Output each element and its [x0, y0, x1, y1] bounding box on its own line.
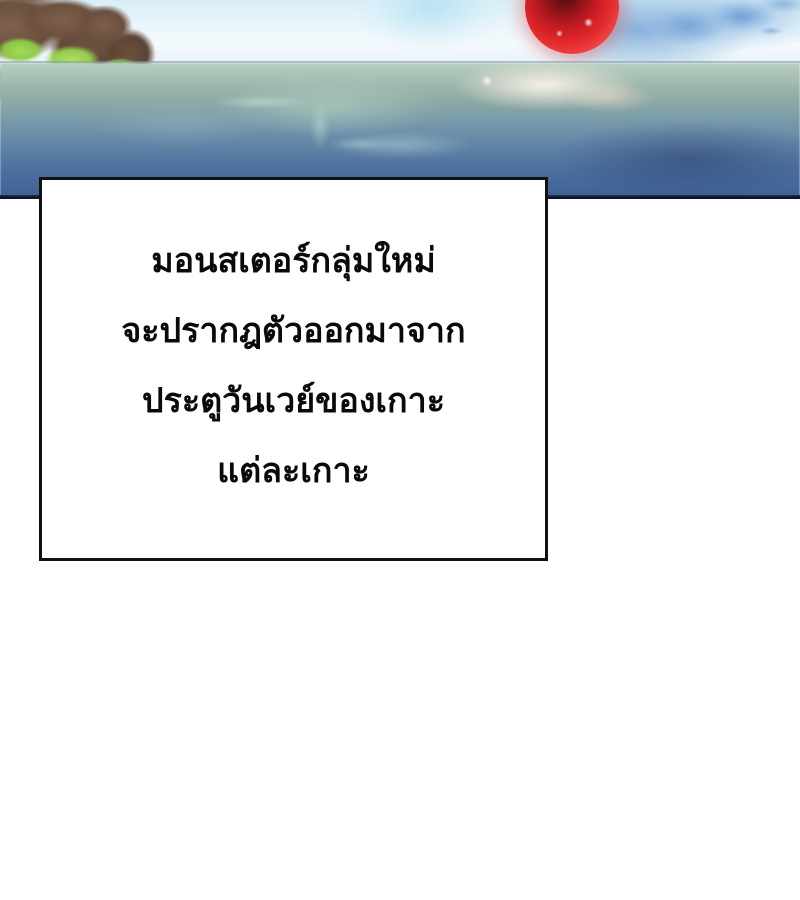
narration-line-4: แต่ละเกาะ: [217, 436, 370, 506]
blue-cloud-tail-icon: [756, 26, 786, 36]
red-orb-highlight-icon: [584, 18, 593, 27]
red-orb-highlight-secondary-icon: [556, 30, 563, 37]
narration-box: มอนสเตอร์กลุ่มใหม่ จะปรากฎตัวออกมาจาก ปร…: [39, 177, 548, 561]
comic-page: มอนสเตอร์กลุ่มใหม่ จะปรากฎตัวออกมาจาก ปร…: [0, 0, 800, 900]
water-glow-icon: [300, 120, 500, 170]
narration-line-3: ประตูวันเวย์ของเกาะ: [142, 366, 445, 436]
narration-line-2: จะปรากฎตัวออกมาจาก: [121, 296, 465, 366]
artwork-panel: [0, 0, 800, 199]
narration-line-1: มอนสเตอร์กลุ่มใหม่: [151, 226, 435, 296]
